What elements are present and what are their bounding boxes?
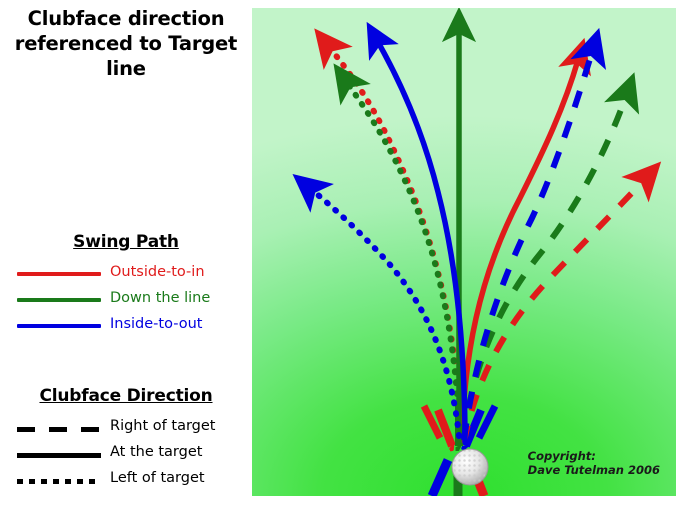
swing-path-sample-red (17, 272, 101, 276)
clubface-sample-dotted (17, 479, 101, 484)
clubface-direction-legend: Clubface Direction Right of target At th… (0, 386, 252, 493)
copyright-line-1: Copyright: (528, 449, 660, 463)
trajectory-outside-to-in-left-of-target (330, 48, 461, 438)
copyright-notice: Copyright: Dave Tutelman 2006 (528, 449, 660, 477)
clubface-legend-heading: Clubface Direction (0, 386, 252, 406)
legend-item-right-of-target: Right of target (0, 415, 252, 441)
legend-label-right-of-target: Right of target (110, 418, 215, 434)
clubface-sample-dashed (17, 427, 101, 432)
trajectory-down-the-line-left-of-target (348, 84, 460, 438)
legend-item-left-of-target: Left of target (0, 467, 252, 493)
trajectory-plot (252, 8, 676, 496)
swing-path-sample-green (17, 298, 101, 302)
legend-label-inside-to-out: Inside-to-out (110, 316, 202, 332)
legend-label-outside-to-in: Outside-to-in (110, 264, 205, 280)
swing-path-sample-blue (17, 324, 101, 328)
page-title: Clubface direction referenced to Target … (4, 6, 248, 81)
swing-path-legend: Swing Path Outside-to-in Down the line I… (0, 232, 252, 339)
legend-label-left-of-target: Left of target (110, 470, 205, 486)
legend-item-at-the-target: At the target (0, 441, 252, 467)
legend-label-down-the-line: Down the line (110, 290, 210, 306)
legend-label-at-the-target: At the target (110, 444, 202, 460)
copyright-line-2: Dave Tutelman 2006 (528, 463, 660, 477)
legend-item-outside-to-in: Outside-to-in (0, 261, 252, 287)
fairway-panel: Copyright: Dave Tutelman 2006 (252, 8, 676, 496)
swing-path-legend-heading: Swing Path (0, 232, 252, 252)
clubface-sample-solid (17, 453, 101, 458)
legend-item-inside-to-out: Inside-to-out (0, 313, 252, 339)
legend-panel: Clubface direction referenced to Target … (0, 0, 252, 506)
legend-item-down-the-line: Down the line (0, 287, 252, 313)
golf-ball (452, 449, 488, 485)
trajectory-inside-to-out-left-of-target (312, 190, 459, 436)
trajectory-inside-to-out-right-of-target (464, 52, 592, 440)
diagram-root: Clubface direction referenced to Target … (0, 0, 683, 506)
